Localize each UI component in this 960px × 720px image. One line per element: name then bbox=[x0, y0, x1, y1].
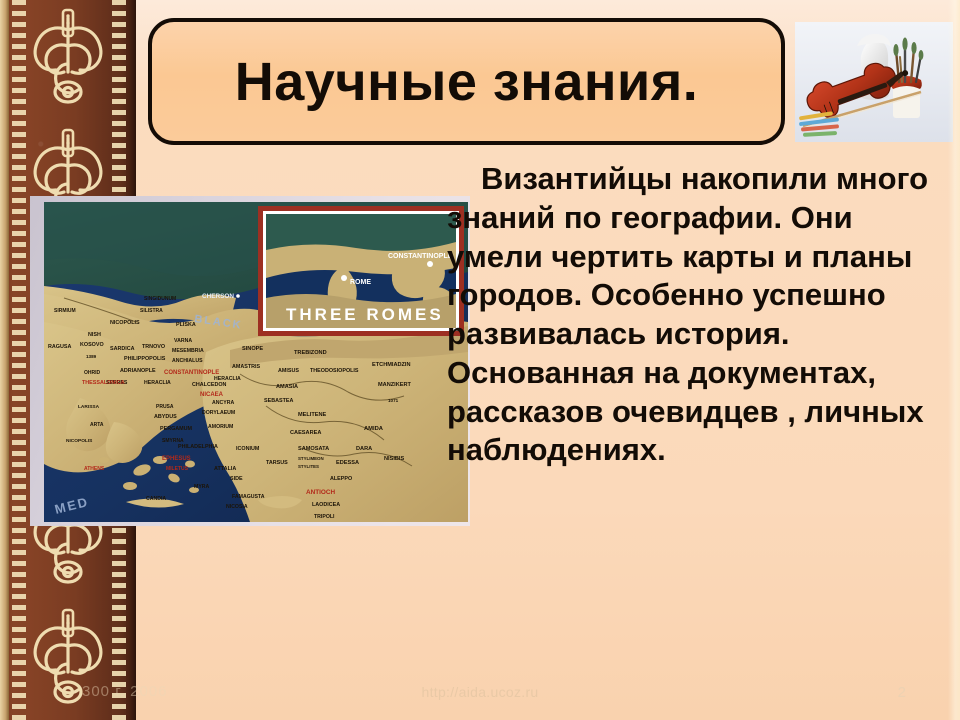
svg-text:THEODOSIOPOLIS: THEODOSIOPOLIS bbox=[310, 368, 359, 374]
map-photo: SINGIDUNUM SIRMIUM SILISTRA NICOPOLIS PL… bbox=[30, 196, 470, 526]
historical-map-illustration: SINGIDUNUM SIRMIUM SILISTRA NICOPOLIS PL… bbox=[44, 202, 468, 522]
svg-text:NICOPOLIS: NICOPOLIS bbox=[110, 320, 140, 326]
three-romes-inset: ROME CONSTANTINOPLE THREE ROMES bbox=[258, 206, 464, 336]
svg-text:PERGAMUM: PERGAMUM bbox=[160, 426, 193, 432]
svg-text:EPHESUS: EPHESUS bbox=[162, 456, 191, 462]
svg-text:MILETUS: MILETUS bbox=[166, 466, 189, 472]
svg-text:ANCYRA: ANCYRA bbox=[212, 400, 234, 406]
right-edge-highlight bbox=[948, 0, 960, 720]
svg-text:NISIBIS: NISIBIS bbox=[384, 456, 404, 462]
svg-text:CANDIA: CANDIA bbox=[146, 496, 166, 502]
svg-text:TRNOVO: TRNOVO bbox=[142, 344, 165, 350]
footer-source-url: http://aida.ucoz.ru bbox=[0, 684, 960, 700]
svg-text:AMISUS: AMISUS bbox=[278, 368, 299, 374]
svg-text:1071: 1071 bbox=[388, 398, 399, 403]
svg-text:STYLITES: STYLITES bbox=[298, 464, 319, 469]
svg-text:SILISTRA: SILISTRA bbox=[140, 308, 163, 314]
svg-text:CHALCEDON: CHALCEDON bbox=[192, 382, 227, 388]
svg-text:VARNA: VARNA bbox=[174, 338, 192, 344]
svg-text:DORYLAEUM: DORYLAEUM bbox=[202, 410, 235, 416]
svg-text:AMORIUM: AMORIUM bbox=[208, 424, 233, 430]
svg-text:RAGUSA: RAGUSA bbox=[48, 344, 71, 350]
svg-text:NISH: NISH bbox=[88, 332, 101, 338]
svg-text:LAODICEA: LAODICEA bbox=[312, 502, 340, 508]
slide-canvas: Научные знания. bbox=[0, 0, 960, 720]
svg-text:THESSALONICA: THESSALONICA bbox=[82, 380, 125, 386]
svg-text:THREE ROMES: THREE ROMES bbox=[286, 305, 444, 324]
svg-text:SEBASTEA: SEBASTEA bbox=[264, 398, 293, 404]
svg-text:PHILADELPHIA: PHILADELPHIA bbox=[178, 444, 218, 450]
palmette-icon bbox=[22, 2, 114, 106]
svg-text:TREBIZOND: TREBIZOND bbox=[294, 350, 327, 356]
svg-text:AMIDA: AMIDA bbox=[364, 426, 384, 432]
svg-text:SIDE: SIDE bbox=[230, 476, 243, 482]
svg-text:FAMAGUSTA: FAMAGUSTA bbox=[232, 494, 265, 500]
svg-text:MANZIKERT: MANZIKERT bbox=[378, 382, 412, 388]
border-edge-light bbox=[0, 0, 9, 720]
svg-text:SINOPE: SINOPE bbox=[242, 346, 263, 352]
svg-text:ICONIUM: ICONIUM bbox=[236, 446, 260, 452]
slide-title-box: Научные знания. bbox=[148, 18, 785, 145]
page-title: Научные знания. bbox=[235, 55, 699, 109]
slide-page-number: 2 bbox=[898, 684, 906, 701]
svg-text:AMASIA: AMASIA bbox=[276, 384, 298, 390]
svg-text:ETCHMIADZIN: ETCHMIADZIN bbox=[372, 362, 411, 368]
svg-text:PHILIPPOPOLIS: PHILIPPOPOLIS bbox=[124, 356, 166, 362]
svg-text:NICAEA: NICAEA bbox=[200, 392, 224, 398]
svg-text:MESEMBRIA: MESEMBRIA bbox=[172, 348, 204, 354]
svg-text:SAMOSATA: SAMOSATA bbox=[298, 446, 329, 452]
byzantium-map-image: SINGIDUNUM SIRMIUM SILISTRA NICOPOLIS PL… bbox=[44, 202, 468, 522]
svg-text:ALEPPO: ALEPPO bbox=[330, 476, 352, 482]
svg-text:HERACLIA: HERACLIA bbox=[214, 376, 241, 382]
body-text-block: Византийцы накопили много знаний по геог… bbox=[447, 160, 947, 470]
svg-text:TARSUS: TARSUS bbox=[266, 460, 288, 466]
svg-text:MYRA: MYRA bbox=[194, 484, 210, 490]
svg-text:SIRMIUM: SIRMIUM bbox=[54, 308, 76, 314]
svg-text:ARTA: ARTA bbox=[90, 422, 104, 428]
svg-text:ABYDUS: ABYDUS bbox=[154, 414, 177, 420]
svg-text:NICOPOLIS: NICOPOLIS bbox=[66, 438, 93, 444]
art-still-life-image bbox=[795, 22, 953, 142]
svg-text:SINGIDUNUM: SINGIDUNUM bbox=[144, 296, 176, 302]
svg-text:LARISSA: LARISSA bbox=[78, 404, 100, 410]
svg-text:ADRIANOPLE: ADRIANOPLE bbox=[120, 368, 156, 374]
ornament-motif bbox=[16, 0, 120, 114]
svg-text:SARDICA: SARDICA bbox=[110, 346, 135, 352]
svg-text:ROME: ROME bbox=[350, 279, 371, 286]
still-life-illustration bbox=[795, 22, 953, 142]
svg-text:ANTIOCH: ANTIOCH bbox=[306, 489, 335, 496]
svg-text:OHRID: OHRID bbox=[84, 370, 101, 376]
svg-text:ATTALIA: ATTALIA bbox=[214, 466, 236, 472]
svg-text:CONSTANTINOPLE: CONSTANTINOPLE bbox=[164, 370, 219, 376]
svg-text:ATHENS: ATHENS bbox=[84, 466, 105, 472]
svg-text:HERACLIA: HERACLIA bbox=[144, 380, 171, 386]
svg-text:MELITENE: MELITENE bbox=[298, 412, 327, 418]
svg-text:TRIPOLI: TRIPOLI bbox=[314, 514, 335, 520]
svg-text:1389: 1389 bbox=[86, 354, 97, 359]
svg-text:CAESAREA: CAESAREA bbox=[290, 430, 321, 436]
svg-text:DARA: DARA bbox=[356, 446, 372, 452]
svg-text:ANCHIALUS: ANCHIALUS bbox=[172, 358, 203, 364]
svg-text:CHERSON: CHERSON bbox=[202, 293, 234, 300]
svg-text:NICOSIA: NICOSIA bbox=[226, 504, 248, 510]
svg-text:PRUSA: PRUSA bbox=[156, 404, 174, 410]
svg-text:AMASTRIS: AMASTRIS bbox=[232, 364, 261, 370]
svg-text:STYLIMEON: STYLIMEON bbox=[298, 456, 324, 461]
body-paragraph: Византийцы накопили много знаний по геог… bbox=[447, 160, 947, 470]
svg-text:KOSOVO: KOSOVO bbox=[80, 342, 104, 348]
svg-text:EDESSA: EDESSA bbox=[336, 460, 359, 466]
svg-text:CONSTANTINOPLE: CONSTANTINOPLE bbox=[388, 253, 453, 260]
